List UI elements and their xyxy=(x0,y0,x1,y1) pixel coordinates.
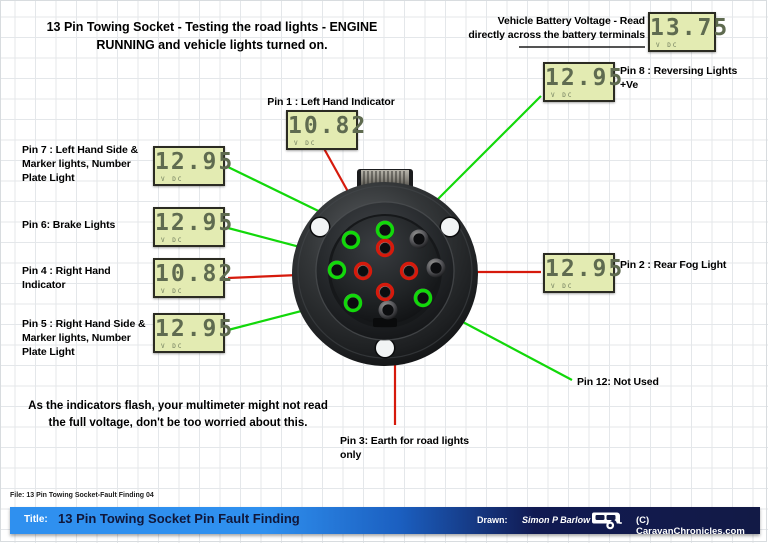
copyright-text: (C) CaravanChronicles.com xyxy=(636,515,760,537)
battery-lcd-reading: 13.75 xyxy=(650,15,712,42)
pin7-label: Pin 7 : Left Hand Side & Marker lights, … xyxy=(22,143,152,185)
pin4-lcd-reading: 10.82 xyxy=(155,261,221,288)
battery-lcd: 13.75 V DC xyxy=(648,12,716,52)
caravan-icon xyxy=(592,509,622,531)
pin6-label: Pin 6: Brake Lights xyxy=(22,218,152,232)
pin1-lcd: 10.82 V DC xyxy=(286,110,358,150)
indicator-flash-note: As the indicators flash, your multimeter… xyxy=(28,398,328,432)
drawn-by-value: Simon P Barlow xyxy=(522,515,590,525)
towing-socket-illustration xyxy=(289,168,481,372)
title-block-bar: Title: 13 Pin Towing Socket Pin Fault Fi… xyxy=(10,507,760,534)
pin5-lcd-units: V DC xyxy=(161,343,183,350)
file-name-label: File: 13 Pin Towing Socket-Fault Finding… xyxy=(10,492,154,499)
pin2-lcd-reading: 12.95 xyxy=(545,256,611,283)
pin5-lcd: 12.95 V DC xyxy=(153,313,225,353)
title-block-label: Title: xyxy=(24,514,48,525)
page-title: 13 Pin Towing Socket - Testing the road … xyxy=(22,18,402,54)
pin4-label: Pin 4 : Right Hand Indicator xyxy=(22,264,152,292)
pin1-lcd-reading: 10.82 xyxy=(288,113,354,140)
pin8-label: Pin 8 : Reversing Lights +Ve xyxy=(620,64,750,92)
pin6-lcd-reading: 12.95 xyxy=(155,210,221,237)
battery-lcd-units: V DC xyxy=(656,42,678,49)
pin6-lcd-units: V DC xyxy=(161,237,183,244)
pin1-lcd-units: V DC xyxy=(294,140,316,147)
pin8-lcd: 12.95 V DC xyxy=(543,62,615,102)
pin2-lcd: 12.95 V DC xyxy=(543,253,615,293)
pin2-lcd-units: V DC xyxy=(551,283,573,290)
pin3-label: Pin 3: Earth for road lights only xyxy=(340,434,470,462)
pin8-lcd-reading: 12.95 xyxy=(545,65,611,92)
pin8-lcd-units: V DC xyxy=(551,92,573,99)
pin5-label: Pin 5 : Right Hand Side & Marker lights,… xyxy=(22,317,152,359)
pin2-label: Pin 2 : Rear Fog Light xyxy=(620,258,750,272)
pin7-lcd-units: V DC xyxy=(161,176,183,183)
pin7-lcd: 12.95 V DC xyxy=(153,146,225,186)
pin4-lcd: 10.82 V DC xyxy=(153,258,225,298)
pin12-label: Pin 12: Not Used xyxy=(577,375,727,389)
pin6-lcd: 12.95 V DC xyxy=(153,207,225,247)
pin5-lcd-reading: 12.95 xyxy=(155,316,221,343)
battery-voltage-label: Vehicle Battery Voltage - Read directly … xyxy=(467,14,645,42)
title-block-value: 13 Pin Towing Socket Pin Fault Finding xyxy=(58,511,300,526)
pin1-label: Pin 1 : Left Hand Indicator xyxy=(256,95,406,109)
drawn-by-label: Drawn: xyxy=(477,515,508,525)
pin7-lcd-reading: 12.95 xyxy=(155,149,221,176)
pin4-lcd-units: V DC xyxy=(161,288,183,295)
